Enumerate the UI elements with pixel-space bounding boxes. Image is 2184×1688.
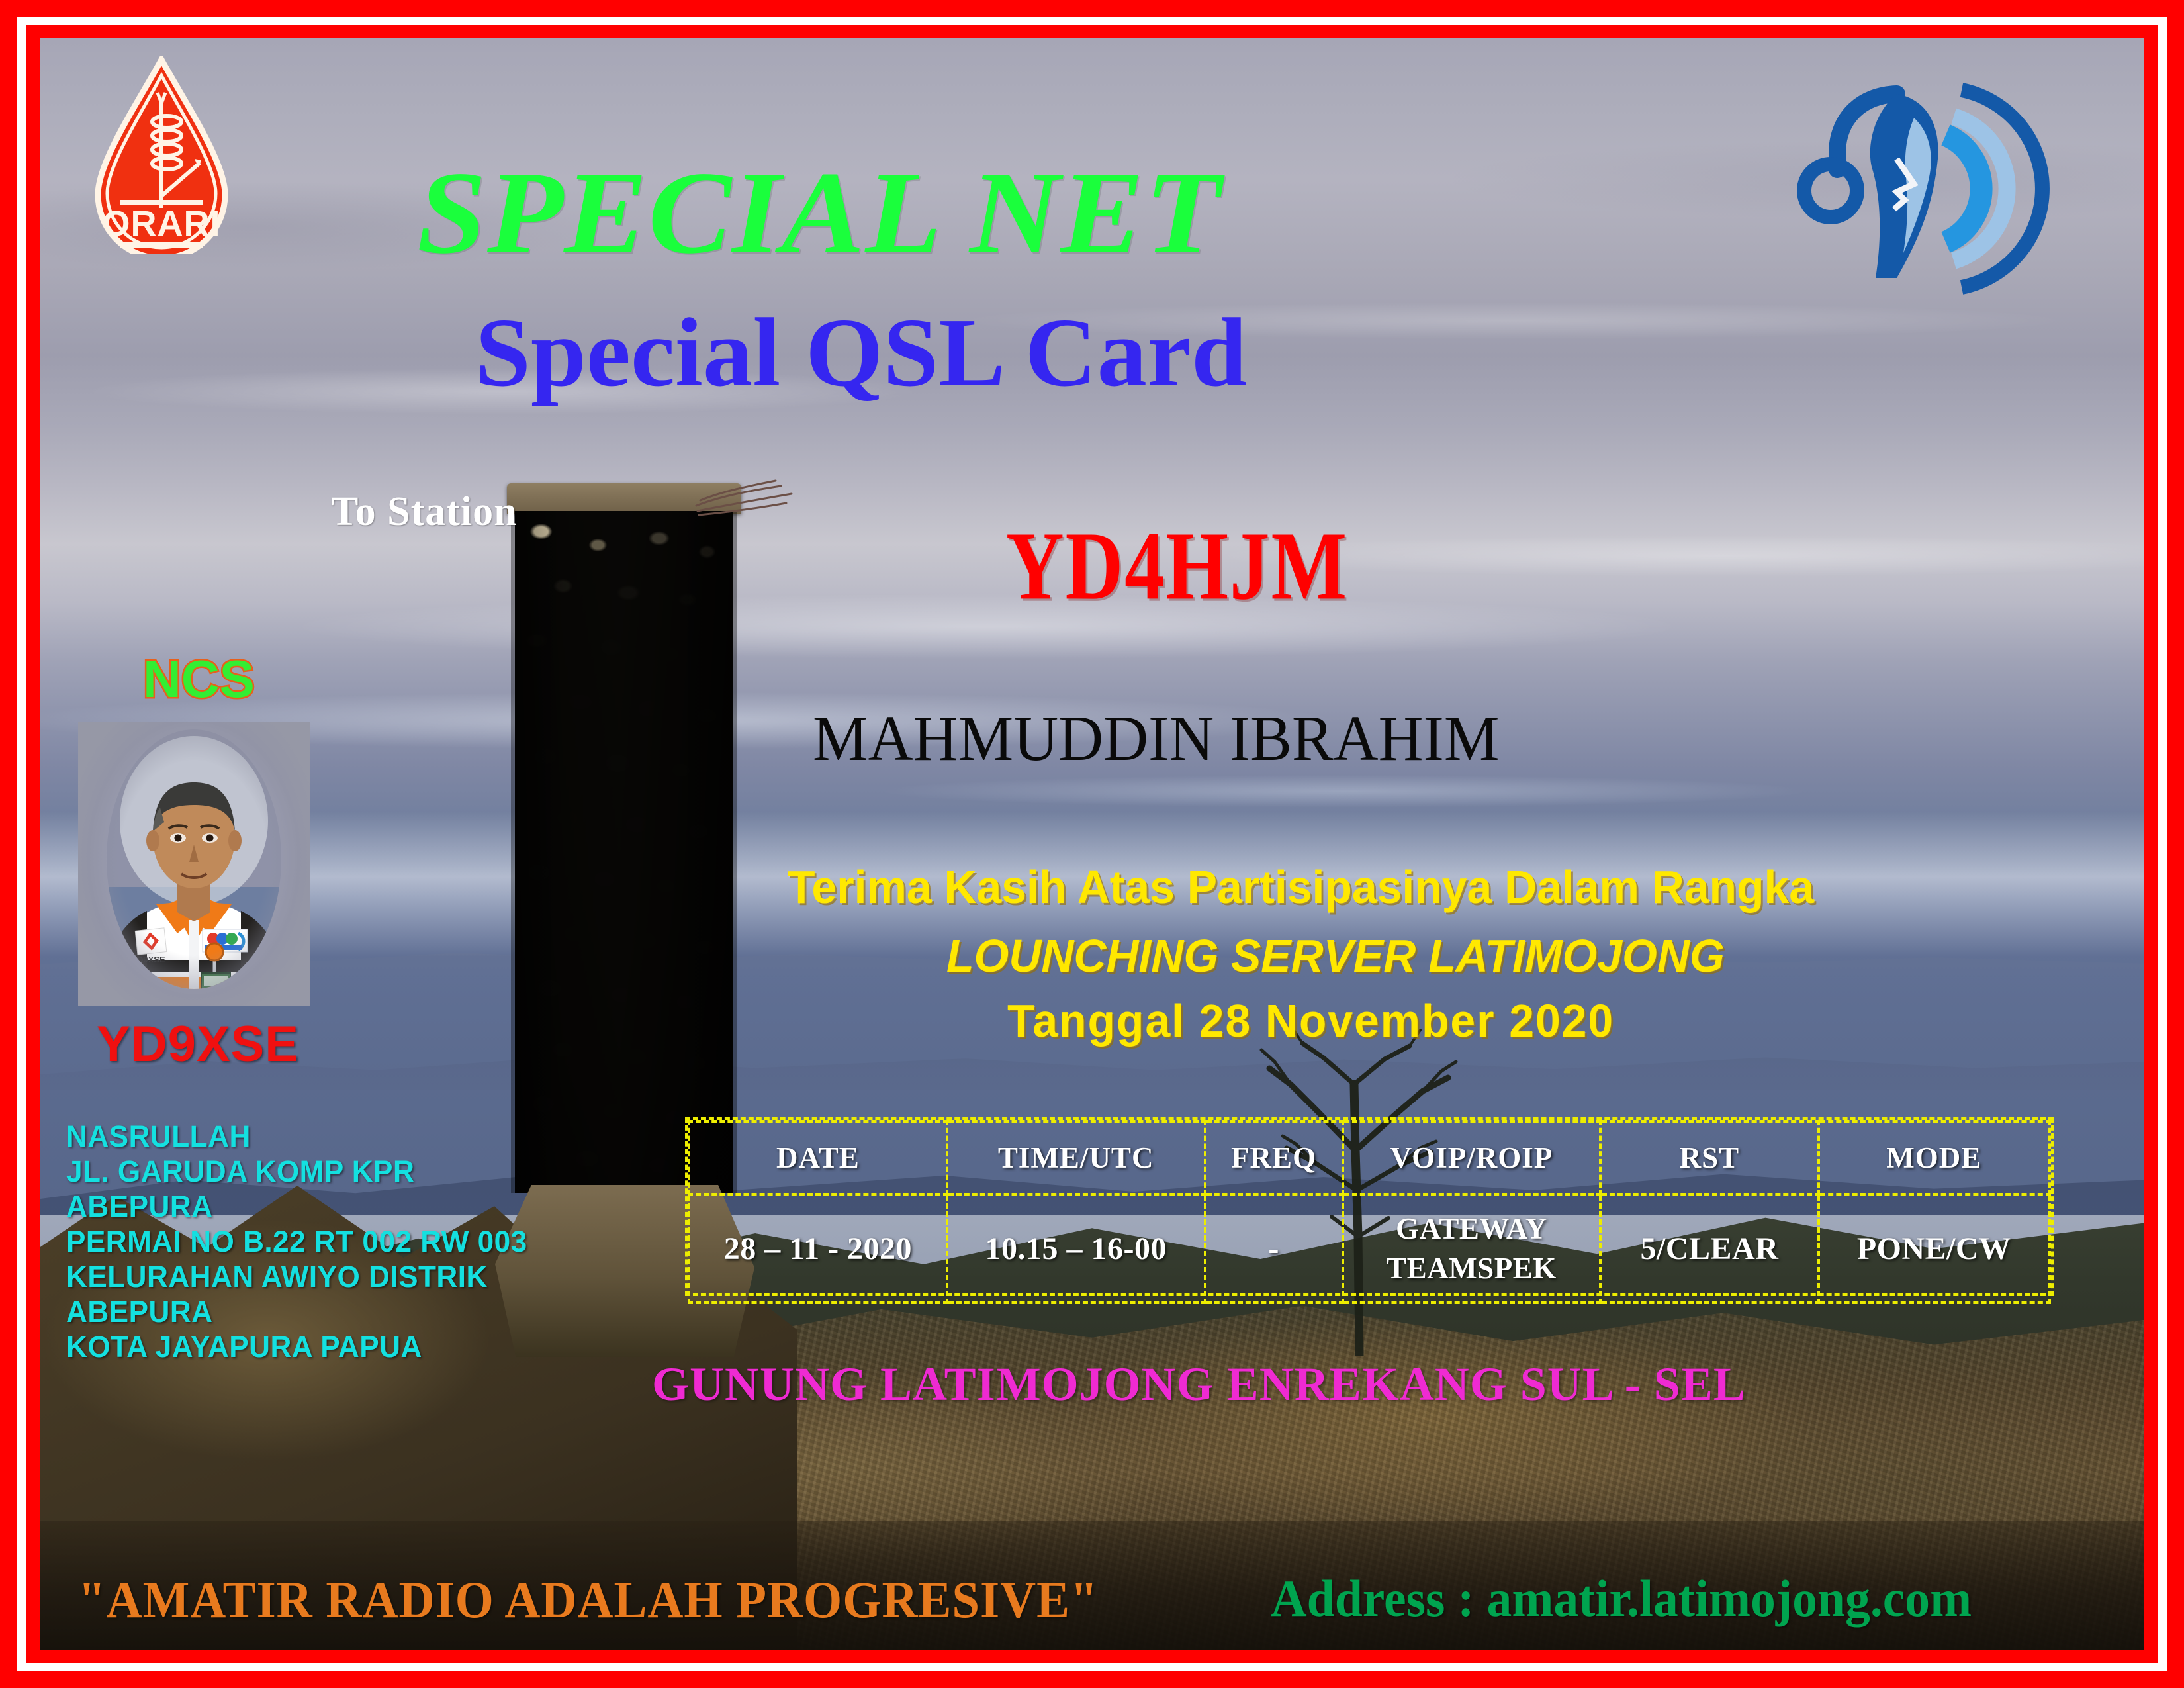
ncs-label: NCS	[143, 649, 255, 710]
address-line: ABEPURA	[66, 1189, 624, 1224]
orari-logo: ORARI	[89, 56, 234, 254]
to-station-label: To Station	[331, 489, 518, 536]
cell-mode: PONE/CW	[1819, 1194, 2050, 1303]
thanks-line-3: Tanggal 28 November 2020	[1007, 994, 1614, 1047]
thanks-line-2: LOUNCHING SERVER LATIMOJONG	[946, 929, 1725, 982]
cell-voip-line-1: GATEWAY	[1345, 1209, 1599, 1248]
ncs-callsign: YD9XSE	[97, 1015, 299, 1073]
web-address-text: Address : amatir.latimojong.com	[1271, 1569, 1972, 1628]
address-line: KOTA JAYAPURA PAPUA	[66, 1329, 624, 1364]
page-title: SPECIAL NET	[417, 144, 1222, 281]
column-header-freq: FREQ	[1205, 1121, 1343, 1194]
column-header-date: DATE	[689, 1121, 947, 1194]
address-line: JL. GARUDA KOMP KPR	[66, 1154, 624, 1189]
cell-voip: GATEWAY TEAMSPEK	[1343, 1194, 1601, 1303]
thanks-line-1: Terima Kasih Atas Partisipasinya Dalam R…	[788, 861, 1814, 914]
ncs-operator-photo: YD9XSE	[78, 722, 310, 1006]
headphone-profile-waves-logo	[1797, 79, 2075, 298]
address-line: NASRULLAH	[66, 1119, 624, 1154]
qso-details-table: DATE TIME/UTC FREQ VOIP/ROIP RST MODE 28…	[685, 1117, 2054, 1296]
pillar-top-twigs	[694, 477, 813, 523]
column-header-rst: RST	[1600, 1121, 1818, 1194]
recipient-operator-name: MAHMUDDIN IBRAHIM	[813, 702, 1500, 776]
column-header-voip: VOIP/ROIP	[1343, 1121, 1601, 1194]
column-header-mode: MODE	[1819, 1121, 2050, 1194]
page-subtitle: Special QSL Card	[475, 297, 1247, 409]
photo-vignette	[78, 722, 310, 1006]
cell-date: 28 – 11 - 2020	[689, 1194, 947, 1303]
table-row: 28 – 11 - 2020 10.15 – 16-00 - GATEWAY T…	[689, 1194, 2050, 1303]
slogan-text: "AMATIR RADIO ADALAH PROGRESIVE"	[78, 1570, 1099, 1630]
cell-rst: 5/CLEAR	[1600, 1194, 1818, 1303]
address-line: ABEPURA	[66, 1294, 624, 1329]
orari-logo-text: ORARI	[103, 204, 221, 244]
column-header-time: TIME/UTC	[947, 1121, 1205, 1194]
cell-freq: -	[1205, 1194, 1343, 1303]
sender-address-block: NASRULLAH JL. GARUDA KOMP KPR ABEPURA PE…	[66, 1119, 635, 1364]
address-line: PERMAI NO B.22 RT 002 RW 003	[66, 1224, 624, 1259]
address-line: KELURAHAN AWIYO DISTRIK	[66, 1259, 624, 1294]
venue-label: GUNUNG LATIMOJONG ENREKANG SUL - SEL	[652, 1357, 1746, 1412]
recipient-callsign: YD4HJM	[1006, 509, 1348, 622]
cell-voip-line-2: TEAMSPEK	[1345, 1248, 1599, 1288]
cell-time: 10.15 – 16-00	[947, 1194, 1205, 1303]
table-header-row: DATE TIME/UTC FREQ VOIP/ROIP RST MODE	[689, 1121, 2050, 1194]
qsl-card: ORARI SPECIAL NET Special QSL Card To St…	[0, 0, 2184, 1688]
pillar-shading	[511, 511, 737, 1193]
